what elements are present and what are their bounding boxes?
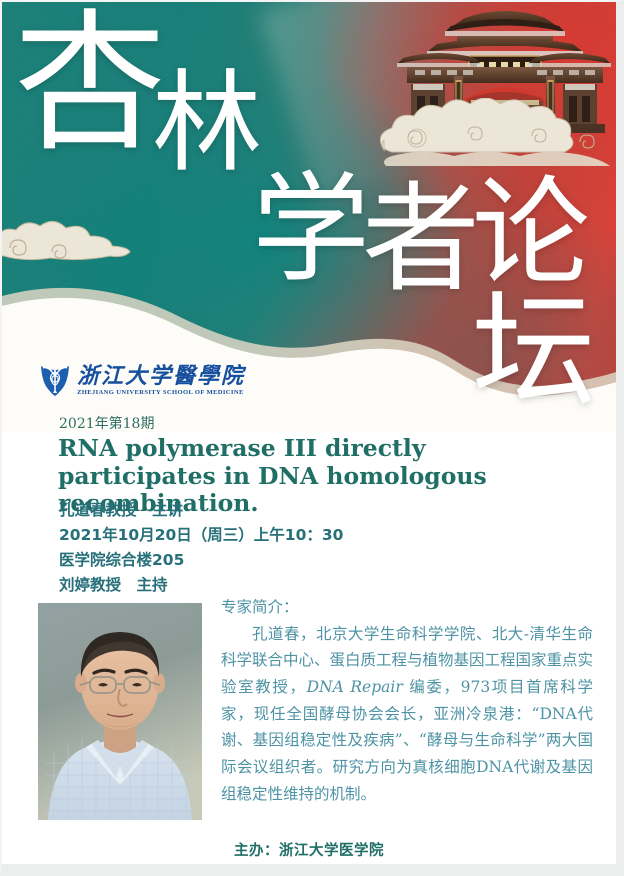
bio-heading: 专家简介： [221,594,593,621]
headline-char-lin: 林 [152,68,262,178]
speaker-portrait [38,603,202,820]
meta-venue: 医学院综合楼205 [59,548,343,573]
logo-wordmark: 浙江大学醫學院 ZHEJIANG UNIVERSITY SCHOOL OF ME… [77,365,245,397]
caduceus-shield-icon [39,363,71,397]
bio-journal-name: DNA Repair [307,678,403,696]
talk-meta-block: 孔道春教授 主讲 2021年10月20日（周三）上午10：30 医学院综合楼20… [59,498,343,598]
headline-char-lun: 论 [472,174,590,292]
headline-char-xing: 杏 [14,8,166,160]
issue-number: 2021年第18期 [59,413,154,433]
organizer-footer: 主办：浙江大学医学院 [2,839,616,860]
headline-char-zhe: 者 [362,180,480,298]
bio-text-part2: 编委，973项目首席科学家，现任全国酵母协会会长，亚洲冷泉港：“DNA代谢、基因… [221,678,593,803]
university-logo: 浙江大学醫學院 ZHEJIANG UNIVERSITY SCHOOL OF ME… [39,363,245,397]
logo-chinese-name: 浙江大学醫學院 [77,365,245,387]
meta-datetime: 2021年10月20日（周三）上午10：30 [59,523,343,548]
speaker-bio: 专家简介： 孔道春，北京大学生命科学学院、北大-清华生命科学联合中心、蛋白质工程… [221,594,593,807]
meta-speaker: 孔道春教授 主讲 [59,498,343,523]
headline-char-xue: 学 [252,170,370,288]
bio-body: 孔道春，北京大学生命科学学院、北大-清华生命科学联合中心、蛋白质工程与植物基因工… [221,621,593,808]
poster-canvas: 杏 林 学 者 论 坛 浙江大学醫學院 ZH [2,2,616,864]
headline-char-tan: 坛 [472,290,596,414]
poster-root: 杏 林 学 者 论 坛 浙江大学醫學院 ZH [0,0,624,876]
logo-english-name: ZHEJIANG UNIVERSITY SCHOOL OF MEDICINE [77,390,245,397]
